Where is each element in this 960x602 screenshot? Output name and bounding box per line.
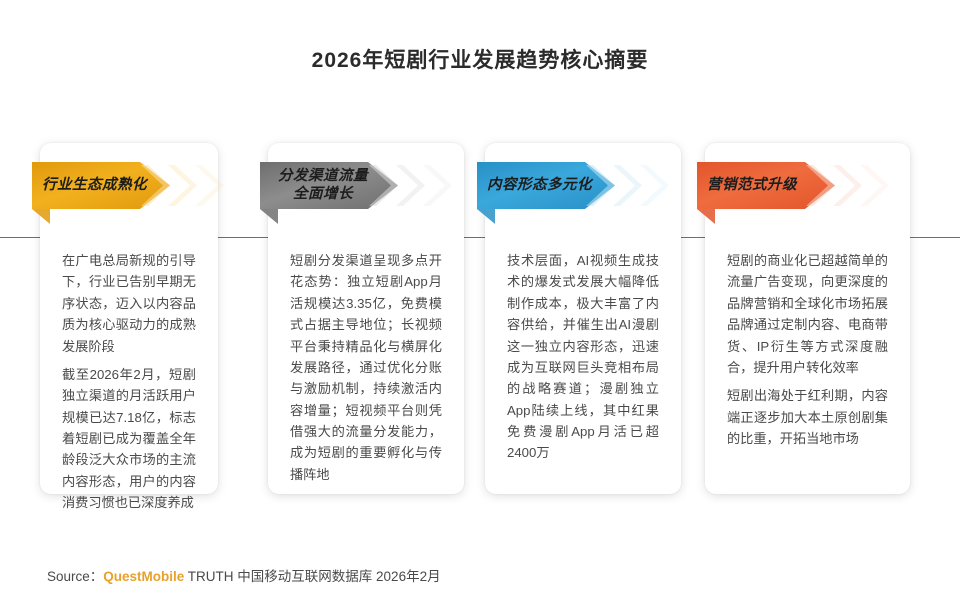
- card-industry-ecology[interactable]: 行业生态成熟化在广电总局新规的引导下，行业已告别早期无序状态，迈入以内容品质为核…: [40, 143, 218, 494]
- card-content-diversity-chevron-2: [613, 165, 642, 206]
- card-content-diversity-banner-label: 内容形态多元化: [487, 162, 592, 209]
- source-prefix: Source：: [47, 569, 103, 584]
- card-industry-ecology-paragraph-1: 在广电总局新规的引导下，行业已告别早期无序状态，迈入以内容品质为核心驱动力的成熟…: [62, 250, 196, 357]
- card-marketing-paradigm-chevron-2: [833, 165, 862, 206]
- card-content-diversity-body: 技术层面，AI视频生成技术的爆发式发展大幅降低制作成本，极大丰富了内容供给，并催…: [507, 250, 659, 464]
- infographic-page: 2026年短剧行业发展趋势核心摘要 行业生态成熟化在广电总局新规的引导下，行业已…: [0, 0, 960, 602]
- card-marketing-paradigm-banner: 营销范式升级: [693, 162, 931, 209]
- card-marketing-paradigm-banner-label: 营销范式升级: [707, 162, 797, 209]
- source-footer: Source：QuestMobile TRUTH 中国移动互联网数据库 2026…: [47, 565, 441, 585]
- card-distribution-traffic-banner: 分发渠道流量 全面增长: [256, 162, 494, 209]
- card-distribution-traffic-chevron-2: [396, 165, 425, 206]
- card-marketing-paradigm[interactable]: 营销范式升级短剧的商业化已超越简单的流量广告变现，向更深度的品牌营销和全球化市场…: [705, 143, 910, 494]
- card-content-diversity[interactable]: 内容形态多元化技术层面，AI视频生成技术的爆发式发展大幅降低制作成本，极大丰富了…: [485, 143, 681, 494]
- card-industry-ecology-paragraph-2: 截至2026年2月，短剧独立渠道的月活跃用户规模已达7.18亿，标志着短剧已成为…: [62, 364, 196, 514]
- card-distribution-traffic-banner-label: 分发渠道流量 全面增长: [264, 162, 382, 209]
- card-marketing-paradigm-paragraph-1: 短剧的商业化已超越简单的流量广告变现，向更深度的品牌营销和全球化市场拓展品牌通过…: [727, 250, 888, 378]
- card-industry-ecology-banner: 行业生态成熟化: [28, 162, 266, 209]
- card-marketing-paradigm-chevron-3: [860, 165, 889, 206]
- card-distribution-traffic[interactable]: 分发渠道流量 全面增长短剧分发渠道呈现多点开花态势：独立短剧App月活规模达3.…: [268, 143, 464, 494]
- card-marketing-paradigm-paragraph-2: 短剧出海处于红利期，内容端正逐步加大本土原创剧集的比重，开拓当地市场: [727, 385, 888, 449]
- card-distribution-traffic-paragraph-1: 短剧分发渠道呈现多点开花态势：独立短剧App月活规模达3.35亿，免费模式占据主…: [290, 250, 442, 485]
- card-content-diversity-chevron-3: [640, 165, 669, 206]
- source-suffix: TRUTH 中国移动互联网数据库 2026年2月: [184, 569, 440, 584]
- source-brand: QuestMobile: [103, 569, 184, 584]
- card-industry-ecology-body: 在广电总局新规的引导下，行业已告别早期无序状态，迈入以内容品质为核心驱动力的成熟…: [62, 250, 196, 514]
- card-distribution-traffic-body: 短剧分发渠道呈现多点开花态势：独立短剧App月活规模达3.35亿，免费模式占据主…: [290, 250, 442, 485]
- card-industry-ecology-chevron-3: [195, 165, 224, 206]
- card-industry-ecology-chevron-2: [168, 165, 197, 206]
- card-distribution-traffic-chevron-3: [423, 165, 452, 206]
- card-content-diversity-banner: 内容形态多元化: [473, 162, 711, 209]
- card-content-diversity-paragraph-1: 技术层面，AI视频生成技术的爆发式发展大幅降低制作成本，极大丰富了内容供给，并催…: [507, 250, 659, 464]
- page-title: 2026年短剧行业发展趋势核心摘要: [0, 44, 960, 74]
- card-marketing-paradigm-body: 短剧的商业化已超越简单的流量广告变现，向更深度的品牌营销和全球化市场拓展品牌通过…: [727, 250, 888, 449]
- card-industry-ecology-banner-label: 行业生态成熟化: [42, 162, 147, 209]
